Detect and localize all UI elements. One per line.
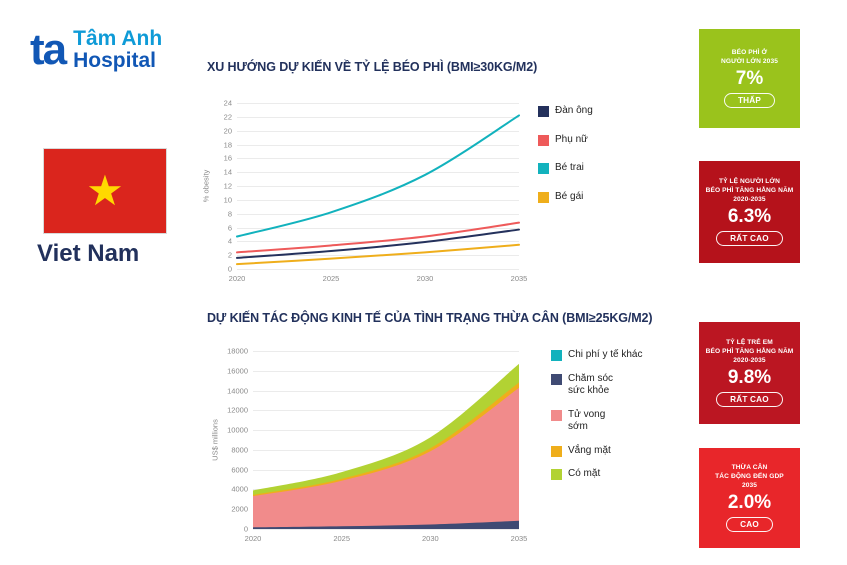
x-axis-tick: 2025 <box>333 534 350 543</box>
legend-swatch <box>551 374 562 385</box>
legend-label: Vắng mặt <box>568 445 611 458</box>
legend-item[interactable]: Đàn ông <box>538 105 593 118</box>
legend-swatch <box>551 410 562 421</box>
x-axis-tick: 2035 <box>511 534 528 543</box>
y-axis-tick: 18000 <box>227 347 248 356</box>
legend-label: Chăm sóc sức khỏe <box>568 373 613 398</box>
stat-card-value: 9.8% <box>728 368 771 387</box>
brand-wordmark: Tâm Anh Hospital <box>73 28 162 72</box>
series-line <box>237 115 519 236</box>
y-axis-tick: 12000 <box>227 406 248 415</box>
y-axis-tick: 2 <box>228 251 232 260</box>
stat-card-gdp-impact: THỪA CÂN TÁC ĐỘNG ĐẾN GDP 2035 2.0% CAO <box>699 448 800 548</box>
chart-1-plot: 0246810121416182022242020202520302035 <box>237 103 519 269</box>
legend-swatch <box>551 469 562 480</box>
legend-item[interactable]: Chi phí y tế khác <box>551 349 642 362</box>
x-axis-tick: 2020 <box>229 274 246 283</box>
y-axis-tick: 18 <box>224 140 232 149</box>
brand-logo: ta Tâm Anh Hospital <box>30 28 162 72</box>
legend-item[interactable]: Có mặt <box>551 468 642 481</box>
legend-swatch <box>538 163 549 174</box>
x-axis-tick: 2030 <box>422 534 439 543</box>
legend-swatch <box>551 350 562 361</box>
chart-2-plot: 0200040006000800010000120001400016000180… <box>253 351 519 529</box>
y-axis-tick: 16000 <box>227 366 248 375</box>
legend-label: Có mặt <box>568 468 600 481</box>
series-line <box>237 230 519 258</box>
y-axis-tick: 6000 <box>231 465 248 474</box>
y-axis-tick: 20 <box>224 126 232 135</box>
stat-card-adult-annual-increase: TỶ LỆ NGƯỜI LỚN BÉO PHÌ TĂNG HẰNG NĂM 20… <box>699 161 800 263</box>
stat-card-value: 7% <box>736 69 763 88</box>
chart-2-y-axis-label: US$ millions <box>211 419 220 461</box>
y-axis-tick: 16 <box>224 154 232 163</box>
legend-item[interactable]: Chăm sóc sức khỏe <box>551 373 642 398</box>
y-axis-tick: 8 <box>228 209 232 218</box>
y-axis-tick: 0 <box>244 525 248 534</box>
stat-card-label: TỶ LỆ NGƯỜI LỚN BÉO PHÌ TĂNG HẰNG NĂM 20… <box>706 178 794 205</box>
legend-swatch <box>538 106 549 117</box>
legend-label: Phụ nữ <box>555 134 588 147</box>
x-axis-tick: 2025 <box>323 274 340 283</box>
chart-1-legend: Đàn ôngPhụ nữBé traiBé gái <box>538 105 593 203</box>
stat-card-label: BÉO PHÌ Ở NGƯỜI LỚN 2035 <box>721 49 778 67</box>
stat-card-value: 6.3% <box>728 207 771 226</box>
country-label: Viet Nam <box>37 240 139 268</box>
chart-canvas <box>237 103 519 269</box>
y-axis-tick: 14 <box>224 168 232 177</box>
stat-card-value: 2.0% <box>728 493 771 512</box>
y-axis-tick: 0 <box>228 265 232 274</box>
country-flag: ★ <box>43 148 167 234</box>
legend-label: Đàn ông <box>555 105 593 118</box>
grid-line <box>237 269 519 270</box>
legend-label: Bé trai <box>555 162 584 175</box>
stat-card-badge: THẤP <box>724 93 775 108</box>
legend-label: Chi phí y tế khác <box>568 349 642 362</box>
y-axis-tick: 2000 <box>231 505 248 514</box>
brand-name-line1: Tâm Anh <box>73 28 162 50</box>
legend-item[interactable]: Tử vong sớm <box>551 409 642 434</box>
chart-canvas <box>253 351 519 529</box>
y-axis-tick: 22 <box>224 112 232 121</box>
x-axis-tick: 2030 <box>417 274 434 283</box>
y-axis-tick: 24 <box>224 99 232 108</box>
stat-card-label: THỪA CÂN TÁC ĐỘNG ĐẾN GDP 2035 <box>715 464 784 491</box>
y-axis-tick: 14000 <box>227 386 248 395</box>
legend-swatch <box>538 135 549 146</box>
y-axis-tick: 4000 <box>231 485 248 494</box>
y-axis-tick: 6 <box>228 223 232 232</box>
legend-swatch <box>551 446 562 457</box>
legend-swatch <box>538 192 549 203</box>
legend-item[interactable]: Vắng mặt <box>551 445 642 458</box>
chart-1-y-axis-label: % obesity <box>202 170 211 203</box>
y-axis-tick: 8000 <box>231 445 248 454</box>
brand-monogram: ta <box>30 30 65 70</box>
stat-card-badge: RẤT CAO <box>716 392 783 407</box>
chart-2-legend: Chi phí y tế khácChăm sóc sức khỏeTử von… <box>551 349 642 481</box>
y-axis-tick: 10 <box>224 195 232 204</box>
stat-card-badge: RẤT CAO <box>716 231 783 246</box>
stat-card-child-annual-increase: TỶ LỆ TRẺ EM BÉO PHÌ TĂNG HẰNG NĂM 2020-… <box>699 322 800 424</box>
chart-2-title: DỰ KIẾN TÁC ĐỘNG KINH TẾ CỦA TÌNH TRẠNG … <box>207 311 652 325</box>
chart-1-title: XU HƯỚNG DỰ KIẾN VỀ TỶ LỆ BÉO PHÌ (BMI≥3… <box>207 60 537 74</box>
vietnam-flag-icon: ★ <box>43 148 167 234</box>
y-axis-tick: 12 <box>224 182 232 191</box>
y-axis-tick: 4 <box>228 237 232 246</box>
y-axis-tick: 10000 <box>227 426 248 435</box>
brand-name-line2: Hospital <box>73 50 162 72</box>
legend-item[interactable]: Phụ nữ <box>538 134 593 147</box>
x-axis-tick: 2035 <box>511 274 528 283</box>
legend-item[interactable]: Bé gái <box>538 191 593 204</box>
legend-item[interactable]: Bé trai <box>538 162 593 175</box>
stat-card-adult-obesity: BÉO PHÌ Ở NGƯỜI LỚN 2035 7% THẤP <box>699 29 800 128</box>
legend-label: Bé gái <box>555 191 583 204</box>
stat-card-label: TỶ LỆ TRẺ EM BÉO PHÌ TĂNG HẰNG NĂM 2020-… <box>706 339 794 366</box>
stat-card-badge: CAO <box>726 517 773 532</box>
grid-line <box>253 529 519 530</box>
star-icon: ★ <box>86 170 124 212</box>
x-axis-tick: 2020 <box>245 534 262 543</box>
legend-label: Tử vong sớm <box>568 409 605 434</box>
infographic-page: ta Tâm Anh Hospital ★ Viet Nam XU HƯỚNG … <box>0 0 847 565</box>
